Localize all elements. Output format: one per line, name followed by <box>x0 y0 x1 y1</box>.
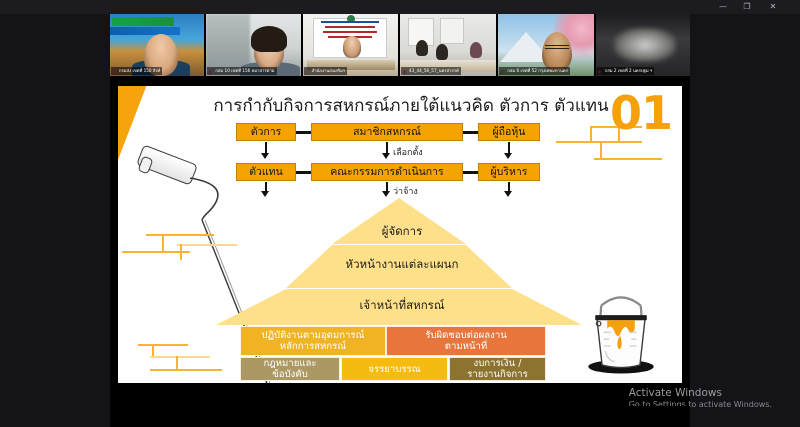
window-titlebar: — ❐ ✕ <box>0 0 800 14</box>
governance-flow-chart: ตัวการ สมาชิกสหกรณ์ ผู้ถือหุ้น เลือกตั้ง… <box>236 123 566 193</box>
flow-box-shareholder: ผู้ถือหุ้น <box>478 123 540 141</box>
participant-name-6: กสม 2 เขตที่ 2 นครปฐม ฯ <box>597 67 655 75</box>
organization-pyramid: ผู้จัดการ หัวหน้างานแต่ละแผนก เจ้าหน้าที… <box>192 198 612 338</box>
minimize-button[interactable]: — <box>712 0 734 14</box>
video-tile-4[interactable]: 43_44_56_57_นครสวรรค์ <box>400 14 496 76</box>
arrow-head-left-1 <box>261 153 269 159</box>
block-accountability: รับผิดชอบต่อผลงาน ตามหน้าที่ <box>386 326 546 356</box>
maximize-button[interactable]: ❐ <box>736 0 758 14</box>
participant-name-5: กสม 6 เขตที่ 52 กรุงเทพมหานคร <box>499 67 570 75</box>
pyramid-level-supervisors: หัวหน้างานแต่ละแผนก <box>192 256 612 274</box>
block-law-regulation: กฎหมายและ ข้อบังคับ <box>240 357 340 381</box>
flow-label-election: เลือกตั้ง <box>393 145 423 159</box>
paint-bucket-icon <box>578 291 664 377</box>
flow-box-executive: ผู้บริหาร <box>478 163 540 181</box>
participant-name-1: กรมส่ง เขตที่ 150 สิงห์ <box>111 67 162 75</box>
arrow-head-center-1 <box>382 153 390 159</box>
flow-box-agent: ตัวแทน <box>236 163 296 181</box>
connector-horizontal-right-bottom <box>463 171 478 174</box>
video-tile-2[interactable]: กสม 10 เขตที่ 156 หมาสารคาม <box>206 14 300 76</box>
video-tile-1[interactable]: กรมส่ง เขตที่ 150 สิงห์ <box>110 14 204 76</box>
shared-screen-area: 01 การกำกับกิจการสหกรณ์ภายใต้แนวคิด ตัวก… <box>110 76 690 406</box>
arrow-head-right-1 <box>504 153 512 159</box>
block-duty-ideals: ปฏิบัติงานตามอุดมการณ์ หลักการสหกรณ์ <box>240 326 386 356</box>
close-button[interactable]: ✕ <box>762 0 784 14</box>
application-window: — ❐ ✕ กรมส่ง เขตที่ 150 สิงห์ <box>0 0 800 427</box>
connector-horizontal-right-top <box>463 131 478 134</box>
flow-box-coop-member: สมาชิกสหกรณ์ <box>311 123 463 141</box>
arrow-head-right-2 <box>504 191 512 197</box>
video-tile-6[interactable]: กสม 2 เขตที่ 2 นครปฐม ฯ <box>596 14 690 76</box>
responsibility-blocks: ปฏิบัติงานตามอุดมการณ์ หลักการสหกรณ์ รับ… <box>240 326 546 378</box>
participant-name-4: 43_44_56_57_นครสวรรค์ <box>401 67 461 75</box>
letterbox-bottom <box>110 406 690 427</box>
flow-box-board-of-directors: คณะกรรมการดำเนินการ <box>311 163 463 181</box>
pyramid-level-staff: เจ้าหน้าที่สหกรณ์ <box>192 297 612 315</box>
arrow-head-center-2 <box>382 191 390 197</box>
flow-label-hiring: ว่าจ้าง <box>393 184 418 198</box>
participant-filmstrip: กรมส่ง เขตที่ 150 สิงห์ กสม 10 เขตที่ 15… <box>110 14 690 76</box>
video-tile-5[interactable]: กสม 6 เขตที่ 52 กรุงเทพมหานคร <box>498 14 593 76</box>
block-financial-report: งบการเงิน / รายงานกิจการ <box>449 357 546 381</box>
participant-name-2: กสม 10 เขตที่ 156 หมาสารคาม <box>207 67 276 75</box>
flow-box-principal: ตัวการ <box>236 123 296 141</box>
video-tile-3-active-speaker[interactable]: สำนักงานสงเสริมฯ <box>303 14 398 76</box>
connector-horizontal-left-bottom <box>296 171 311 174</box>
arrow-head-left-2 <box>261 191 269 197</box>
slide-title: การกำกับกิจการสหกรณ์ภายใต้แนวคิด ตัวการ … <box>176 92 646 119</box>
presentation-slide: 01 การกำกับกิจการสหกรณ์ภายใต้แนวคิด ตัวก… <box>118 86 682 383</box>
pyramid-level-manager: ผู้จัดการ <box>192 223 612 241</box>
connector-horizontal-left-top <box>296 131 311 134</box>
block-ethics: จรรยาบรรณ <box>341 357 448 381</box>
participant-name-3: สำนักงานสงเสริมฯ <box>304 67 348 75</box>
